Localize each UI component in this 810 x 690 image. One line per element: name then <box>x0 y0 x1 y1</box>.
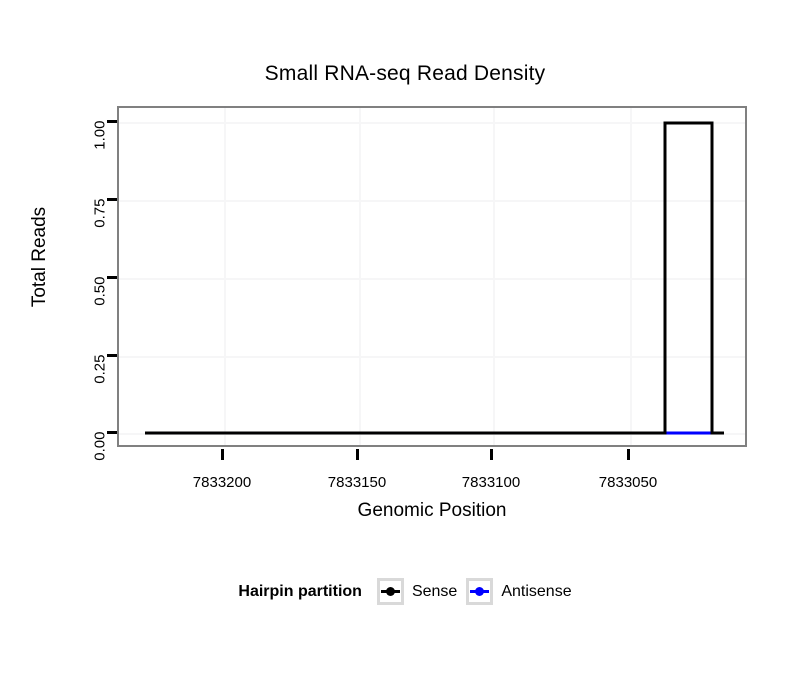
legend-item-antisense[interactable]: Antisense <box>466 578 571 605</box>
x-tick-label-7833150: 7833150 <box>297 474 417 491</box>
y-axis-title: Total Reads <box>29 157 51 357</box>
y-tick-label-1.00: 1.00 <box>92 121 109 150</box>
legend: Hairpin partition Sense Antisense <box>0 578 810 605</box>
legend-point-antisense <box>475 587 484 596</box>
legend-label-sense: Sense <box>412 583 457 601</box>
chart-canvas: Small RNA-seq Read Density 1.00 0.75 0.5… <box>0 0 810 690</box>
x-tick-mark-7833100 <box>490 449 493 460</box>
legend-label-antisense: Antisense <box>501 583 571 601</box>
x-tick-mark-7833200 <box>221 449 224 460</box>
x-tick-label-7833200: 7833200 <box>162 474 282 491</box>
legend-key-antisense <box>466 578 493 605</box>
legend-title: Hairpin partition <box>238 583 362 601</box>
page-title: Small RNA-seq Read Density <box>0 62 810 86</box>
series-layer <box>119 108 745 445</box>
x-tick-mark-7833150 <box>356 449 359 460</box>
y-tick-label-0.75: 0.75 <box>92 199 109 228</box>
x-tick-mark-7833050 <box>627 449 630 460</box>
x-tick-label-7833050: 7833050 <box>568 474 688 491</box>
x-axis-title: Genomic Position <box>117 500 747 522</box>
plot-panel <box>117 106 747 447</box>
y-tick-label-0.25: 0.25 <box>92 355 109 384</box>
y-tick-label-0.00: 0.00 <box>92 432 109 461</box>
series-sense <box>145 123 724 433</box>
legend-key-sense <box>377 578 404 605</box>
legend-item-sense[interactable]: Sense <box>377 578 457 605</box>
y-tick-label-0.50: 0.50 <box>92 277 109 306</box>
legend-point-sense <box>386 587 395 596</box>
x-tick-label-7833100: 7833100 <box>431 474 551 491</box>
